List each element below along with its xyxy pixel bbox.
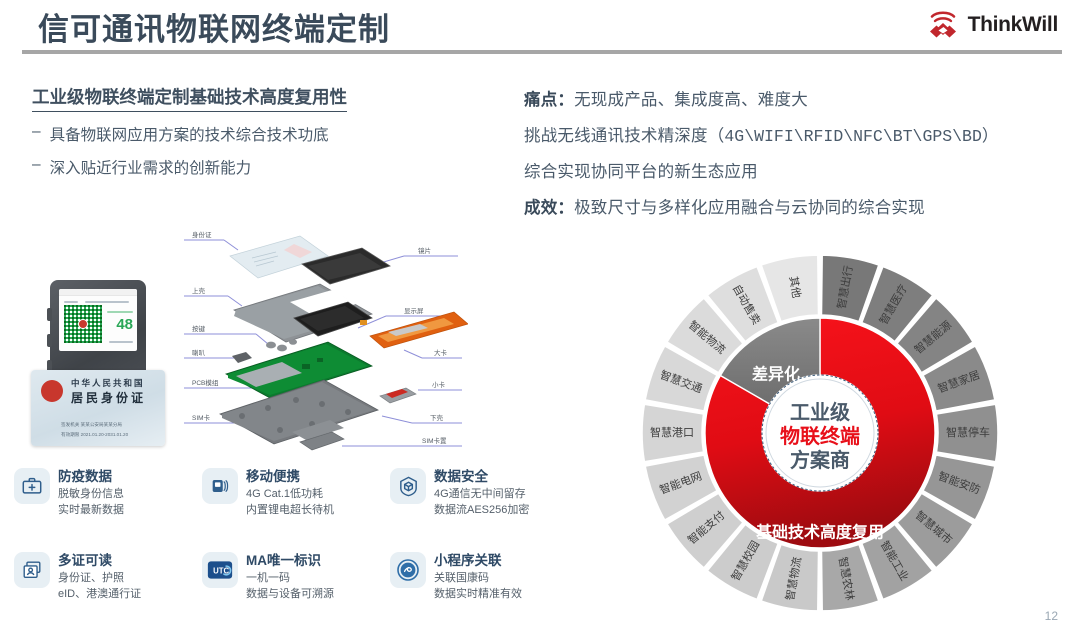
feature-sub-2: eID、港澳通行证 — [58, 587, 141, 603]
right-line-challenge: 挑战无线通讯技术精深度（4G\WIFI\RFID\NFC\BT\GPS\BD） — [524, 122, 1076, 146]
left-heading: 工业级物联终端定制基础技术高度复用性 — [32, 84, 347, 112]
line-lead: 成效： — [524, 199, 574, 217]
feature-sub-1: 关联国康码 — [434, 571, 522, 587]
line-tail: ） — [982, 127, 999, 145]
feature-sub-2: 数据实时精准有效 — [434, 587, 522, 603]
feature-sub-1: 4G通信无中间留存 — [434, 487, 529, 503]
line-tech-list: 4G\WIFI\RFID\NFC\BT\GPS\BD — [724, 127, 981, 146]
brand-logo: ThinkWill — [925, 6, 1058, 44]
page-number: 12 — [1045, 609, 1058, 623]
right-line-painpoint: 痛点：无现成产品、集成度高、难度大 — [524, 86, 1076, 110]
feature-ma-unique-id: UTC MA唯一标识 一机一码 数据与设备可溯源 — [202, 548, 390, 628]
feature-sub-2: 内置锂电超长待机 — [246, 503, 334, 519]
device-side-button — [47, 308, 52, 321]
bullet-text: 具备物联网应用方案的技术综合技术功底 — [50, 123, 329, 145]
exploded-label-right-0: 镜片 — [418, 246, 431, 255]
qr-center-emblem — [78, 319, 88, 329]
feature-title: 多证可读 — [58, 549, 141, 569]
exploded-label-right-5: SIM卡置 — [422, 436, 447, 445]
exploded-label-right-1: 显示屏 — [404, 307, 424, 315]
outer-ring-label: 智慧停车 — [946, 425, 990, 439]
hub-line-1: 工业级 — [790, 400, 850, 424]
feature-sub-2: 数据流AES256加密 — [434, 503, 529, 519]
feature-title: 移动便携 — [246, 465, 334, 485]
wifi-diamond-icon — [925, 9, 961, 41]
screen-text-line — [85, 301, 129, 303]
screen-text-line — [109, 341, 133, 343]
slide-header: 信可通讯物联网终端定制 ThinkWill — [0, 0, 1080, 56]
device-screen: 48 — [59, 289, 137, 351]
header-divider — [22, 50, 1062, 54]
feature-mobile-portable: 移动便携 4G Cat.1低功耗 内置锂电超长待机 — [202, 464, 390, 548]
feature-data-security: 数据安全 4G通信无中间留存 数据流AES256加密 — [390, 464, 584, 548]
national-emblem-icon — [41, 380, 63, 402]
line-text: 综合实现协同平台的新生态应用 — [524, 163, 758, 181]
wechat-miniprogram-icon — [390, 552, 426, 588]
feature-title: 防疫数据 — [58, 465, 124, 485]
page-title: 信可通讯物联网终端定制 — [38, 4, 390, 49]
exploded-label-right-4: 下壳 — [430, 413, 444, 422]
brand-name: ThinkWill — [968, 13, 1058, 37]
left-text-block: 工业级物联终端定制基础技术高度复用性 – 具备物联网应用方案的技术综合技术功底 … — [32, 84, 502, 178]
bullet-text: 深入贴近行业需求的创新能力 — [50, 156, 252, 178]
id-card-issuer: 签发机关 某某公安局某某分局 — [61, 422, 122, 428]
screen-status-bar — [59, 289, 137, 296]
feature-grid: 防疫数据 脱敏身份信息 实时最新数据 移动便携 4G Cat.1低功耗 内置锂电… — [14, 464, 584, 628]
feature-sub-1: 身份证、护照 — [58, 571, 141, 587]
feature-sub-1: 一机一码 — [246, 571, 334, 587]
bullet-dash: – — [32, 123, 41, 141]
screen-text-line — [107, 311, 133, 313]
line-text: 挑战无线通讯技术精深度（ — [524, 127, 724, 145]
exploded-label-left-2: 按键 — [192, 324, 206, 333]
screen-text-line — [64, 301, 78, 303]
handheld-device-icon — [202, 468, 238, 504]
exploded-label-left-1: 上壳 — [192, 286, 206, 295]
exploded-label-left-5: SIM卡 — [192, 413, 211, 422]
line-text: 极致尺寸与多样化应用融合与云协同的综合实现 — [574, 199, 925, 217]
left-bullet-1: – 具备物联网应用方案的技术综合技术功底 — [32, 123, 502, 145]
feature-sub-2: 数据与设备可溯源 — [246, 587, 334, 603]
bullet-dash: – — [32, 156, 41, 174]
feature-sub-2: 实时最新数据 — [58, 503, 124, 519]
exploded-label-right-3: 小卡 — [432, 380, 446, 389]
hub-line-2: 物联终端 — [780, 424, 860, 448]
multi-card-icon — [14, 552, 50, 588]
chart-hub: 工业级 物联终端 方案商 — [762, 375, 878, 491]
outer-ring-label: 智慧港口 — [650, 425, 694, 439]
right-text-block: 痛点：无现成产品、集成度高、难度大 挑战无线通讯技术精深度（4G\WIFI\RF… — [524, 86, 1076, 230]
feature-epidemic-data: 防疫数据 脱敏身份信息 实时最新数据 — [14, 464, 202, 548]
feature-multi-credential: 多证可读 身份证、护照 eID、港澳通行证 — [14, 548, 202, 628]
medical-case-icon — [14, 468, 50, 504]
exploded-label-left-3: 喇叭 — [192, 348, 206, 357]
id-card-validity: 有效期限 2021.01.20-2031.01.20 — [61, 432, 128, 438]
handheld-id-reader-photo: 48 中华人民共和国 居民身份证 签发机关 某某公安局某某分局 有效期限 202… — [28, 278, 170, 450]
cube-shield-icon — [390, 468, 426, 504]
device-side-button — [47, 334, 52, 347]
right-line-platform: 综合实现协同平台的新生态应用 — [524, 158, 1076, 182]
left-bullet-2: – 深入贴近行业需求的创新能力 — [32, 156, 502, 178]
line-lead: 痛点： — [524, 91, 574, 109]
screen-countdown-number: 48 — [116, 317, 133, 332]
inner-ring-label: 基础技术高度复用 — [755, 523, 884, 542]
exploded-label-left-0: 身份证 — [192, 230, 212, 239]
id-card-country: 中华人民共和国 — [71, 377, 145, 389]
device-exploded-view: 身份证 上壳 按键 喇叭 PCB模组 SIM卡 镜片 显示屏 大卡 小卡 下壳 … — [172, 218, 468, 456]
feature-sub-1: 脱敏身份信息 — [58, 487, 124, 503]
hub-line-3: 方案商 — [790, 448, 850, 472]
id-card-graphic: 中华人民共和国 居民身份证 签发机关 某某公安局某某分局 有效期限 2021.0… — [31, 370, 165, 446]
inner-ring-label: 差异化 — [752, 365, 800, 384]
exploded-label-left-4: PCB模组 — [192, 378, 219, 387]
feature-title: 数据安全 — [434, 465, 529, 485]
feature-miniprogram-link: 小程序关联 关联国康码 数据实时精准有效 — [390, 548, 584, 628]
line-text: 无现成产品、集成度高、难度大 — [574, 91, 808, 109]
feature-title: MA唯一标识 — [246, 549, 334, 569]
sunburst-donut-chart: 智慧出行智慧医疗智慧能源智慧家居智慧停车智能安防智慧城市智能工业智慧农林智慧物流… — [628, 248, 1012, 618]
feature-sub-1: 4G Cat.1低功耗 — [246, 487, 334, 503]
utc-badge-icon: UTC — [202, 552, 238, 588]
feature-title: 小程序关联 — [434, 549, 522, 569]
exploded-label-right-2: 大卡 — [434, 348, 448, 357]
id-card-type: 居民身份证 — [71, 389, 146, 406]
right-line-result: 成效：极致尺寸与多样化应用融合与云协同的综合实现 — [524, 194, 1076, 218]
